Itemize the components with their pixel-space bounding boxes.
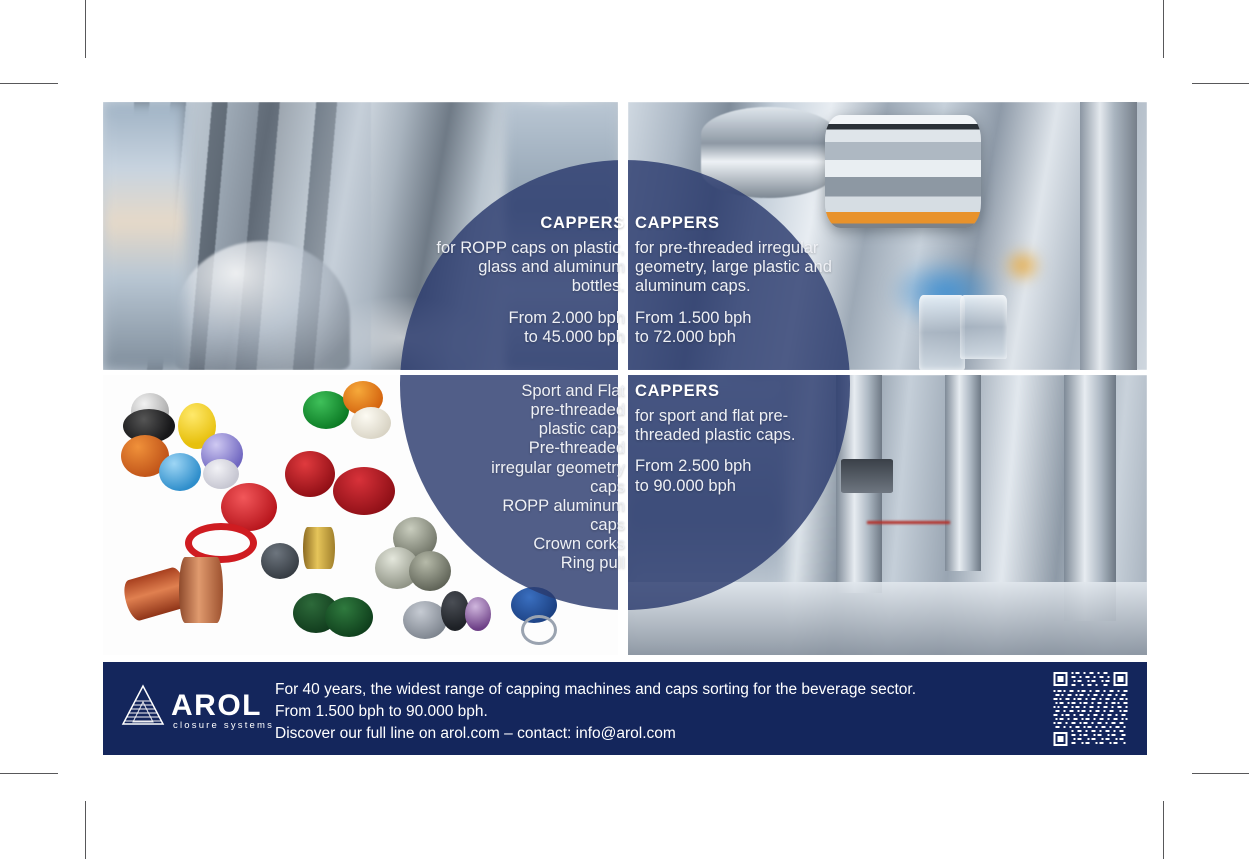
caps-list-item: Sport and Flat — [425, 382, 625, 401]
banner-copy: For 40 years, the widest range of cappin… — [275, 679, 916, 745]
quadrant-top-left-rate-to: to 45.000 bph — [425, 328, 625, 347]
quadrant-bottom-right-text: CAPPERS for sport and flat pre-threaded … — [635, 382, 840, 496]
quadrant-top-left-text: CAPPERS for ROPP caps on plastic, glass … — [425, 214, 625, 347]
quadrant-top-left-description: for ROPP caps on plastic, glass and alum… — [425, 239, 625, 296]
banner-line-1: For 40 years, the widest range of cappin… — [275, 679, 916, 701]
quadrant-top-left-heading: CAPPERS — [425, 214, 625, 233]
quadrant-top-right-rate-from: From 1.500 bph — [635, 309, 840, 328]
crop-mark-bottom-left-vertical — [85, 801, 86, 859]
crop-mark-bottom-right-vertical — [1163, 801, 1164, 859]
caps-list-item: Pre-threaded — [425, 439, 625, 458]
caps-list-item: ROPP aluminum — [425, 497, 625, 516]
quadrant-top-right-text: CAPPERS for pre-threaded irregular geome… — [635, 214, 840, 347]
advert-artboard: CAPPERS for ROPP caps on plastic, glass … — [103, 102, 1147, 755]
quadrant-bottom-right-rate-from: From 2.500 bph — [635, 457, 840, 476]
footer-banner: AROL closure systems For 40 years, the w… — [103, 662, 1147, 755]
caps-list-item: Ring pull — [425, 554, 625, 573]
crop-mark-top-left-vertical — [85, 0, 86, 58]
svg-text:closure systems: closure systems — [173, 720, 274, 731]
banner-line-2: From 1.500 bph to 90.000 bph. — [275, 701, 916, 723]
caps-list-item: Crown corks — [425, 535, 625, 554]
quadrant-bottom-right-description: for sport and flat pre-threaded plastic … — [635, 407, 840, 445]
caps-list-item: irregular geometry — [425, 459, 625, 478]
quadrant-bottom-right-rate-to: to 90.000 bph — [635, 477, 840, 496]
crop-mark-bottom-right-horizontal — [1192, 773, 1249, 774]
quadrant-top-right-rate-to: to 72.000 bph — [635, 328, 840, 347]
caps-list-item: plastic caps — [425, 420, 625, 439]
quadrant-top-left-rate-from: From 2.000 bph — [425, 309, 625, 328]
qr-code-icon[interactable] — [1042, 670, 1139, 748]
caps-list-item: caps — [425, 516, 625, 535]
arol-logo[interactable]: AROL closure systems — [119, 682, 279, 734]
crop-mark-top-right-horizontal — [1192, 83, 1249, 84]
crop-mark-top-right-vertical — [1163, 0, 1164, 58]
crop-mark-top-left-horizontal — [0, 83, 58, 84]
quadrant-top-right-heading: CAPPERS — [635, 214, 840, 233]
caps-list-item: pre-threaded — [425, 401, 625, 420]
quadrant-top-right-description: for pre-threaded irregular geometry, lar… — [635, 239, 840, 296]
quadrant-bottom-right-heading: CAPPERS — [635, 382, 840, 401]
crop-mark-bottom-left-horizontal — [0, 773, 58, 774]
banner-line-3: Discover our full line on arol.com – con… — [275, 723, 916, 745]
caps-list-item: caps — [425, 478, 625, 497]
svg-text:AROL: AROL — [171, 689, 262, 722]
grid-gutter-horizontal — [103, 370, 1147, 375]
quadrant-bottom-left-text: Sport and Flat pre-threaded plastic caps… — [425, 382, 625, 573]
